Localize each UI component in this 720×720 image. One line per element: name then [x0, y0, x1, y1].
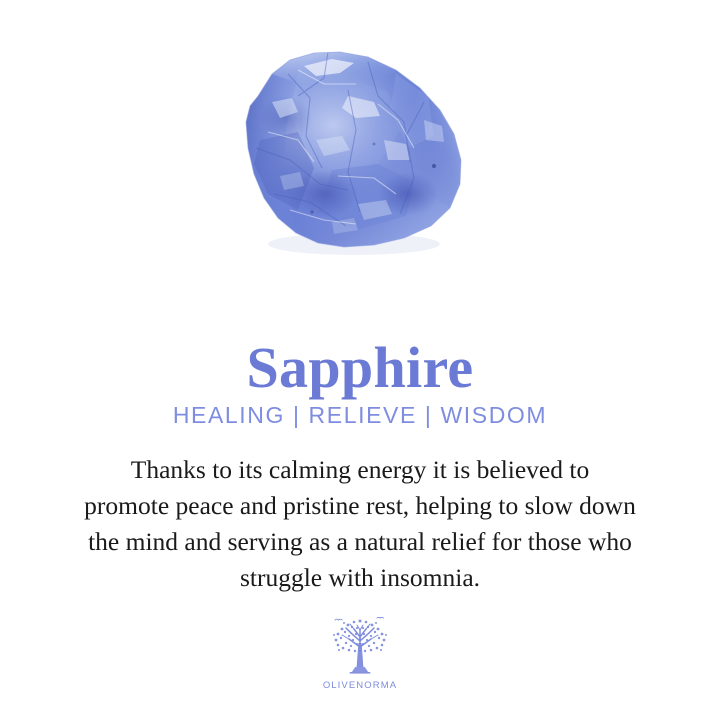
- tree-of-life-icon: [327, 617, 393, 679]
- gemstone-description: Thanks to its calming energy it is belie…: [22, 452, 698, 596]
- gemstone-image-area: [0, 0, 720, 275]
- brand-wordmark: OLIVENORMA: [310, 680, 410, 691]
- gemstone-title: Sapphire: [0, 335, 720, 401]
- brand-logo: OLIVENORMA: [310, 617, 410, 699]
- description-line: struggle with insomnia.: [22, 560, 698, 596]
- sapphire-info-card: Sapphire HEALING | RELIEVE | WISDOM Than…: [0, 0, 720, 720]
- rough-sapphire-crystal-icon: [228, 44, 478, 259]
- description-line: Thanks to its calming energy it is belie…: [22, 452, 698, 488]
- description-line: promote peace and pristine rest, helping…: [22, 488, 698, 524]
- description-line: the mind and serving as a natural relief…: [22, 524, 698, 560]
- gemstone-keywords: HEALING | RELIEVE | WISDOM: [0, 401, 720, 429]
